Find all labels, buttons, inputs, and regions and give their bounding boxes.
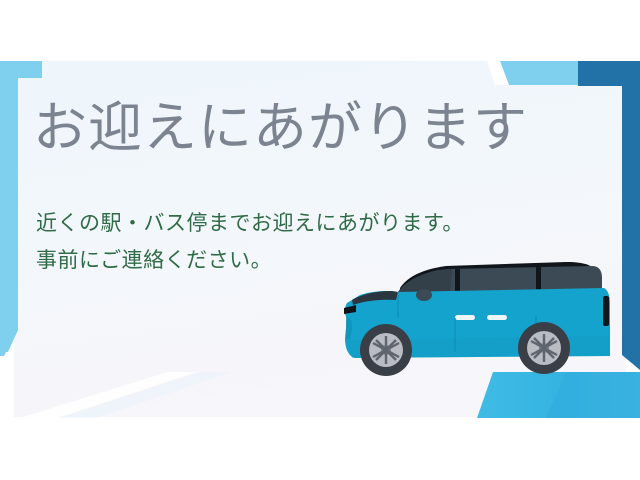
car-front-wheel xyxy=(360,324,412,376)
banner-artwork xyxy=(0,0,640,480)
pickup-service-banner: お迎えにあがります 近くの駅・バス停までお迎えにあがります。 事前にご連絡くださ… xyxy=(0,0,640,480)
car-side-mirror xyxy=(416,289,432,301)
car-taillight xyxy=(603,296,609,326)
bottom-white-strip xyxy=(0,418,640,480)
car-door-handle-rear xyxy=(487,315,507,320)
right-edge-bar xyxy=(622,61,640,370)
car-rear-wheel xyxy=(518,322,570,374)
left-accent-bar-taper xyxy=(0,150,18,356)
car-door-handle-front xyxy=(455,315,475,320)
